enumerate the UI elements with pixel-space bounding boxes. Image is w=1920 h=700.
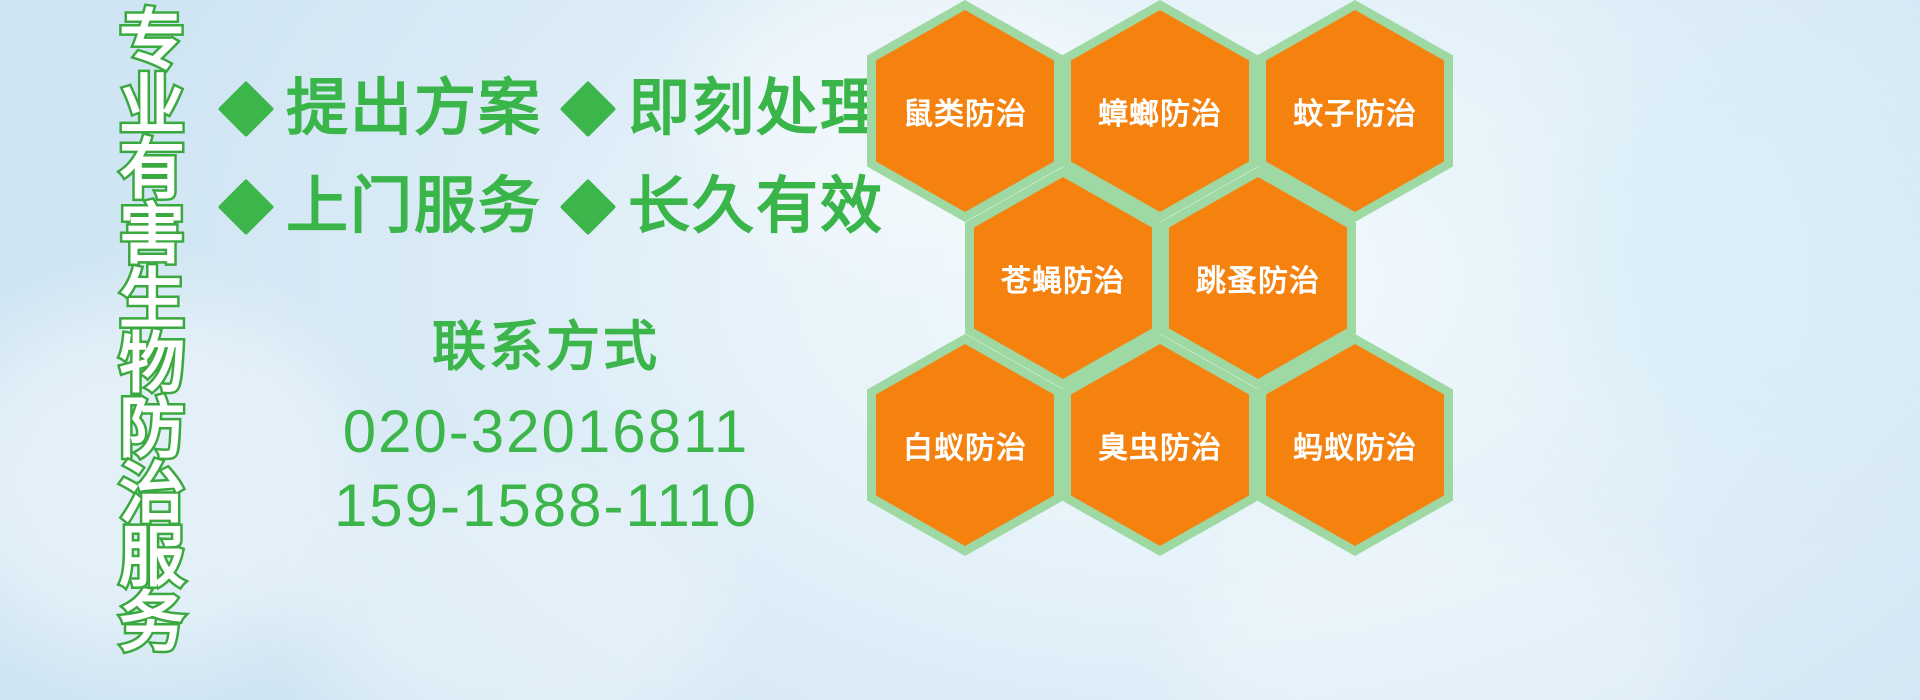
vertical-headline-char: 生 xyxy=(119,267,185,332)
vertical-headline-char: 防 xyxy=(119,396,185,461)
hex-inner: 苍蝇防治 xyxy=(974,177,1152,379)
vertical-headline-char: 害 xyxy=(119,202,185,267)
slogan-item-immediate-action: 即刻处理 xyxy=(568,78,884,140)
hex-inner: 臭虫防治 xyxy=(1071,344,1249,546)
hex-inner: 蚂蚁防治 xyxy=(1266,344,1444,546)
hex-inner: 鼠类防治 xyxy=(876,10,1054,212)
background-blur-blob xyxy=(1560,40,1920,460)
hex-inner: 跳蚤防治 xyxy=(1169,177,1347,379)
phone-number-landline[interactable]: 020-32016811 xyxy=(226,395,866,468)
pest-control-banner: 专 业 有 害 生 物 防 治 服 务 提出方案 即刻处理 上门服务 xyxy=(0,0,1920,700)
slogan-label: 提出方案 xyxy=(286,78,542,140)
contact-title: 联系方式 xyxy=(226,318,866,377)
hex-inner: 白蚁防治 xyxy=(876,344,1054,546)
diamond-icon xyxy=(560,179,617,236)
hex-label: 苍蝇防治 xyxy=(1001,256,1125,300)
hex-label: 白蚁防治 xyxy=(903,423,1027,467)
service-honeycomb: 鼠类防治 蟑螂防治 蚊子防治 苍蝇防治 跳蚤防治 白蚁防治 xyxy=(855,0,1475,700)
vertical-headline: 专 业 有 害 生 物 防 治 服 务 xyxy=(104,8,200,578)
diamond-icon xyxy=(560,81,617,138)
hex-label: 鼠类防治 xyxy=(903,89,1027,133)
vertical-headline-char: 物 xyxy=(119,331,185,396)
slogan-row: 提出方案 即刻处理 xyxy=(226,78,866,140)
hex-inner: 蚊子防治 xyxy=(1266,10,1444,212)
vertical-headline-char: 服 xyxy=(119,525,185,590)
vertical-headline-char: 有 xyxy=(119,137,185,202)
slogan-item-long-lasting: 长久有效 xyxy=(568,176,884,238)
hex-label: 跳蚤防治 xyxy=(1196,256,1320,300)
contact-block: 联系方式 020-32016811 159-1588-1110 xyxy=(226,318,866,542)
hex-label: 蟑螂防治 xyxy=(1098,89,1222,133)
slogan-block: 提出方案 即刻处理 上门服务 长久有效 xyxy=(226,78,866,238)
slogan-label: 长久有效 xyxy=(628,176,884,238)
diamond-icon xyxy=(218,179,275,236)
vertical-headline-char: 业 xyxy=(119,73,185,138)
vertical-headline-char: 治 xyxy=(119,461,185,526)
hex-label: 臭虫防治 xyxy=(1098,423,1222,467)
slogan-row: 上门服务 长久有效 xyxy=(226,176,866,238)
hex-label: 蚊子防治 xyxy=(1293,89,1417,133)
slogan-label: 上门服务 xyxy=(286,176,542,238)
slogan-item-onsite-service: 上门服务 xyxy=(226,176,542,238)
slogan-label: 即刻处理 xyxy=(628,78,884,140)
vertical-headline-char: 专 xyxy=(119,8,185,73)
diamond-icon xyxy=(218,81,275,138)
vertical-headline-char: 务 xyxy=(119,590,185,655)
phone-number-mobile[interactable]: 159-1588-1110 xyxy=(226,469,866,542)
hex-label: 蚂蚁防治 xyxy=(1293,423,1417,467)
slogan-item-propose-plan: 提出方案 xyxy=(226,78,542,140)
hex-inner: 蟑螂防治 xyxy=(1071,10,1249,212)
